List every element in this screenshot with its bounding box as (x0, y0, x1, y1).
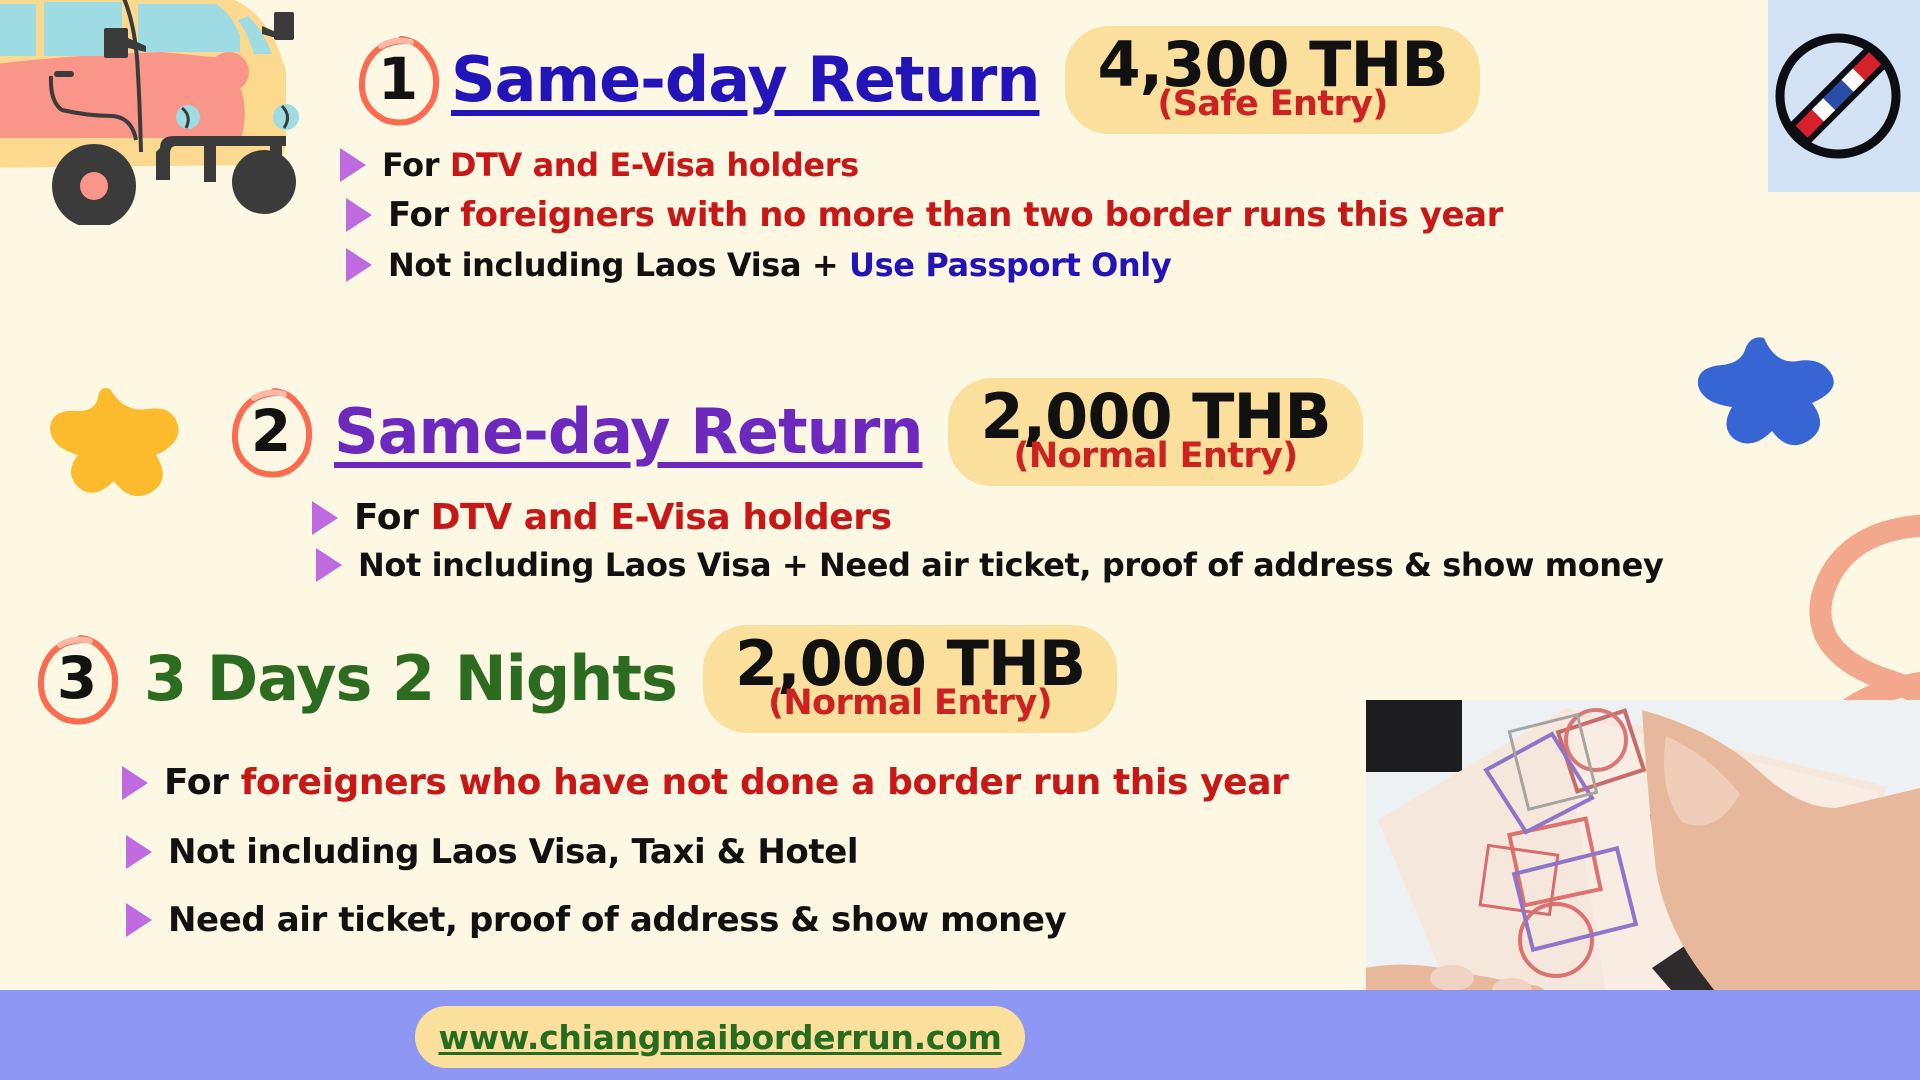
bullet-list-3: For foreigners who have not done a borde… (122, 765, 1288, 937)
price-pill-3: 2,000 THB (Normal Entry) (703, 625, 1117, 733)
price-pill-2: 2,000 THB (Normal Entry) (948, 378, 1362, 486)
offer-block-2: 2 Same-day Return 2,000 THB (Normal Entr… (0, 378, 1663, 582)
triangle-bullet-icon (122, 766, 148, 800)
offer-block-1: 1 Same-day Return 4,300 THB (Safe Entry)… (0, 26, 1503, 282)
bullet-text: Not including Laos Visa + Use Passport O… (388, 249, 1171, 281)
triangle-bullet-icon (126, 903, 152, 937)
bullet-text: Not including Laos Visa, Taxi & Hotel (168, 835, 858, 869)
offer-title-1: Same-day Return (451, 49, 1039, 111)
triangle-bullet-icon (346, 198, 372, 232)
list-item: Need air ticket, proof of address & show… (126, 903, 1288, 937)
step-number-3: 3 (57, 649, 97, 707)
step-number-circle-3: 3 (34, 633, 120, 725)
list-item: Not including Laos Visa + Use Passport O… (346, 248, 1503, 282)
triangle-bullet-icon (346, 248, 372, 282)
step-number-circle-1: 1 (355, 34, 441, 126)
bullet-list-2: For DTV and E-Visa holders Not including… (312, 500, 1663, 582)
offer-block-3: 3 3 Days 2 Nights 2,000 THB (Normal Entr… (0, 625, 1288, 937)
offer-title-3: 3 Days 2 Nights (144, 648, 677, 710)
bullet-list-1: For DTV and E-Visa holders For foreigner… (340, 148, 1503, 282)
offer-title-2: Same-day Return (334, 401, 922, 463)
price-pill-1: 4,300 THB (Safe Entry) (1065, 26, 1479, 134)
poster-canvas: 1 Same-day Return 4,300 THB (Safe Entry)… (0, 0, 1920, 1080)
triangle-bullet-icon (126, 835, 152, 869)
bullet-text: For DTV and E-Visa holders (354, 500, 892, 536)
bullet-text: Need air ticket, proof of address & show… (168, 903, 1066, 937)
offer-heading-row-1: 1 Same-day Return 4,300 THB (Safe Entry) (355, 26, 1503, 134)
list-item: For DTV and E-Visa holders (312, 500, 1663, 536)
list-item: For foreigners with no more than two bor… (346, 198, 1503, 232)
bullet-text: For DTV and E-Visa holders (382, 149, 859, 181)
bullet-text: Not including Laos Visa + Need air ticke… (358, 549, 1663, 581)
list-item: For foreigners who have not done a borde… (122, 765, 1288, 801)
bullet-text: For foreigners who have not done a borde… (164, 765, 1288, 801)
triangle-bullet-icon (316, 548, 342, 582)
step-number-1: 1 (378, 50, 418, 108)
list-item: For DTV and E-Visa holders (340, 148, 1503, 182)
triangle-bullet-icon (312, 501, 338, 535)
list-item: Not including Laos Visa, Taxi & Hotel (126, 835, 1288, 869)
offer-heading-row-3: 3 3 Days 2 Nights 2,000 THB (Normal Entr… (34, 625, 1288, 733)
entry-note-3: (Normal Entry) (735, 689, 1085, 718)
offer-heading-row-2: 2 Same-day Return 2,000 THB (Normal Entr… (228, 378, 1663, 486)
entry-note-2: (Normal Entry) (980, 442, 1330, 471)
step-number-circle-2: 2 (228, 386, 314, 478)
list-item: Not including Laos Visa + Need air ticke… (316, 548, 1663, 582)
step-number-2: 2 (251, 402, 291, 460)
triangle-bullet-icon (340, 148, 366, 182)
bullet-text: For foreigners with no more than two bor… (388, 198, 1503, 232)
